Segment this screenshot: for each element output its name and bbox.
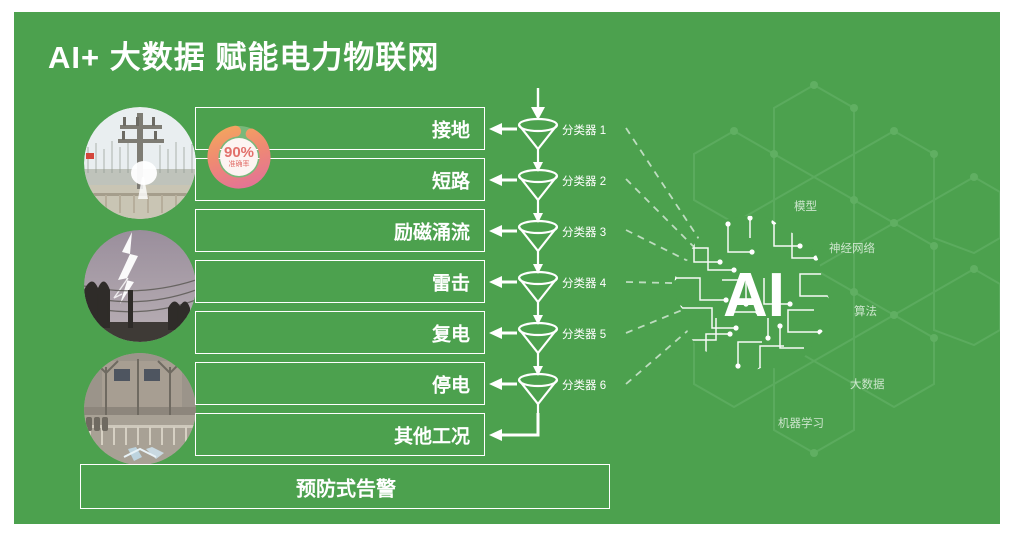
ai-keyword-model: 模型 [794, 198, 817, 214]
green-panel: AI+ 大数据 赋能电力物联网 [14, 12, 1000, 524]
ai-keyword-big-data: 大数据 [850, 376, 885, 392]
classifier-label-3: 分类器 3 [562, 224, 606, 240]
ai-keyword-algorithm: 算法 [854, 303, 877, 319]
ai-keyword-machine-learning: 机器学习 [778, 415, 824, 431]
classifier-pipeline [14, 12, 1000, 524]
classifier-label-1: 分类器 1 [562, 122, 606, 138]
preventive-alarm-banner[interactable]: 预防式告警 [80, 464, 610, 509]
classifier-label-6: 分类器 6 [562, 377, 606, 393]
ai-core-label: AI [723, 261, 785, 330]
classifier-label-4: 分类器 4 [562, 275, 606, 291]
preventive-alarm-label: 预防式告警 [81, 472, 611, 501]
classifier-label-5: 分类器 5 [562, 326, 606, 342]
ai-keyword-neural-network: 神经网络 [829, 240, 875, 256]
infographic-root: AI+ 大数据 赋能电力物联网 [0, 0, 1014, 535]
classifier-label-2: 分类器 2 [562, 173, 606, 189]
ai-brain-graphic: AI [664, 208, 844, 383]
